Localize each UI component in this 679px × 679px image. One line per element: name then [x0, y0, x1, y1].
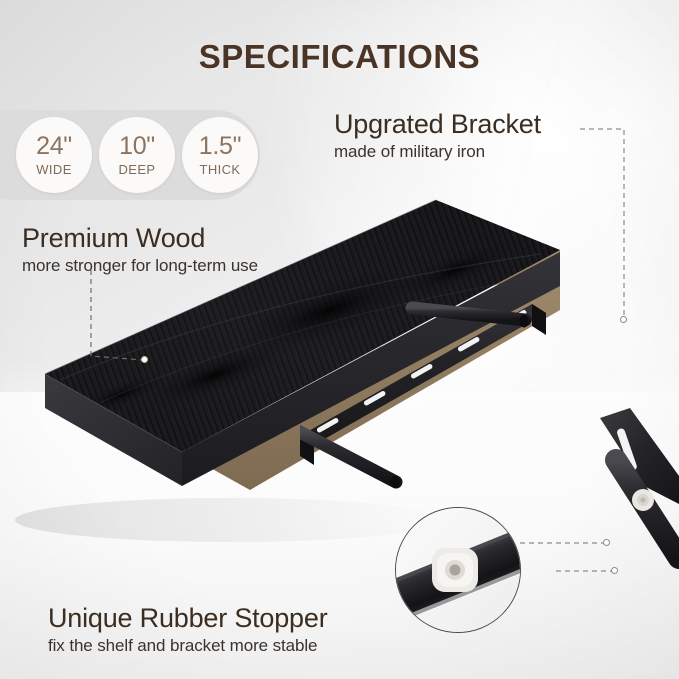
spec-badge-thick-value: 1.5" — [199, 134, 241, 159]
leader-endpoint-rubber-stopper-lower — [611, 567, 618, 574]
callout-unique-rubber-stopper-subtext: fix the shelf and bracket more stable — [48, 636, 328, 656]
leader-endpoint-rubber-stopper — [603, 539, 610, 546]
spec-badge-deep: 10" DEEP — [99, 117, 175, 193]
rubber-stopper-magnifier-inset — [395, 507, 521, 633]
leader-line-premium-wood — [60, 268, 190, 373]
spec-badge-wide-value: 24" — [36, 134, 72, 159]
spec-badge-deep-label: DEEP — [118, 163, 155, 176]
spec-badge-thick: 1.5" THICK — [182, 117, 258, 193]
callout-premium-wood: Premium Wood more stronger for long-term… — [22, 224, 258, 276]
rubber-stopper-lower-hole — [640, 497, 645, 502]
leader-line-rubber-stopper-lower — [556, 564, 646, 578]
spec-badge-deep-value: 10" — [119, 134, 155, 159]
callout-upgrated-bracket-subtext: made of military iron — [334, 142, 541, 162]
bracket-rod-upper — [412, 308, 525, 320]
spec-badge-thick-label: THICK — [200, 163, 241, 176]
leader-endpoint-upgrated-bracket — [620, 316, 627, 323]
leader-line-upgrated-bracket — [580, 126, 660, 336]
bracket-wall-plate — [300, 304, 546, 445]
callout-upgrated-bracket: Upgrated Bracket made of military iron — [334, 110, 541, 162]
callout-premium-wood-heading: Premium Wood — [22, 224, 258, 254]
bracket-upper — [300, 304, 546, 552]
product-spec-image: SPECIFICATIONS 24" WIDE 10" DEEP 1.5" TH… — [0, 0, 679, 679]
spec-badge-wide: 24" WIDE — [16, 117, 92, 193]
spec-badge-wide-label: WIDE — [36, 163, 72, 176]
callout-unique-rubber-stopper: Unique Rubber Stopper fix the shelf and … — [48, 604, 328, 656]
leader-endpoint-premium-wood — [141, 356, 148, 363]
callout-upgrated-bracket-heading: Upgrated Bracket — [334, 110, 541, 140]
bracket-rod-upper-cap — [520, 315, 529, 328]
inset-rubber-stopper — [432, 548, 478, 592]
bracket-plate-end-2 — [532, 304, 546, 335]
callout-premium-wood-subtext: more stronger for long-term use — [22, 256, 258, 276]
bracket-near-rod-cap — [391, 476, 400, 488]
page-title: SPECIFICATIONS — [0, 38, 679, 76]
callout-unique-rubber-stopper-heading: Unique Rubber Stopper — [48, 604, 328, 634]
